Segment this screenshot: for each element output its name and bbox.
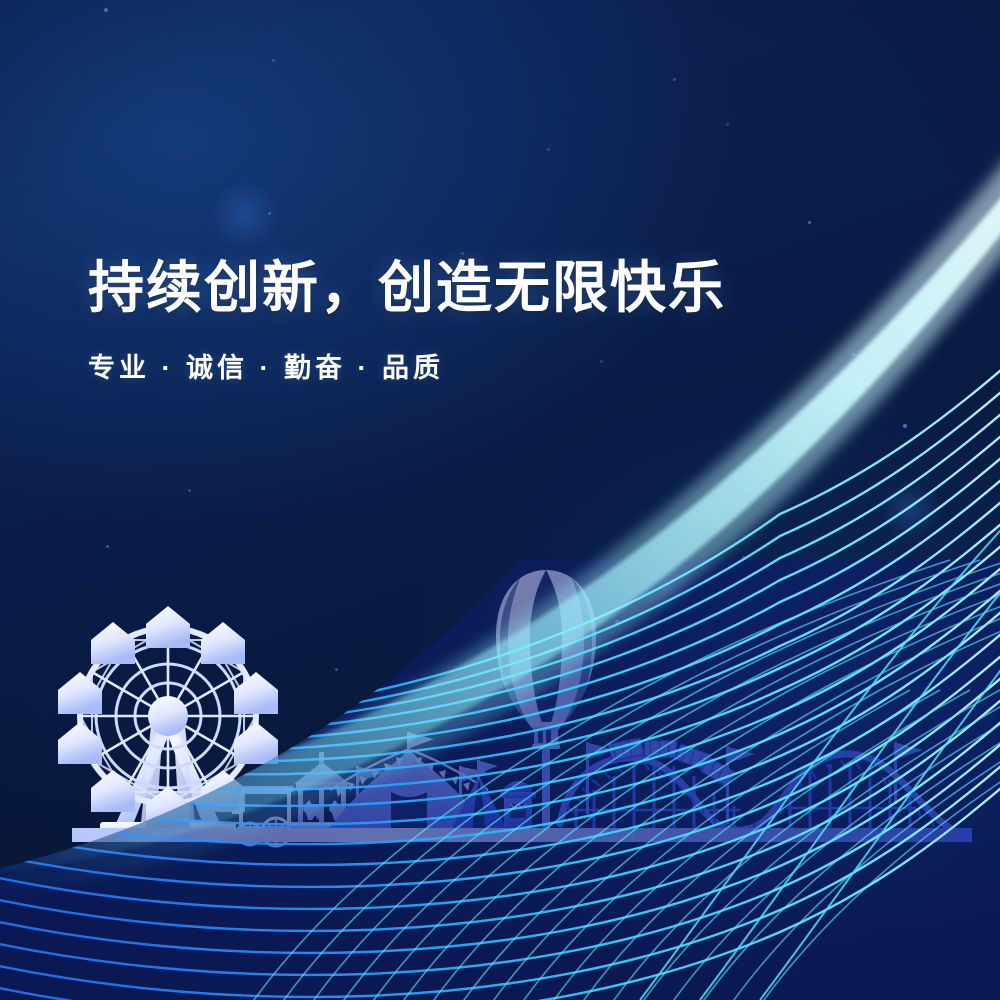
banner-canvas: 持续创新，创造无限快乐 专业 · 诚信 · 勤奋 · 品质	[0, 0, 1000, 1000]
glowing-wave-ribbon	[0, 0, 1000, 1000]
hero-copy-block: 持续创新，创造无限快乐 专业 · 诚信 · 勤奋 · 品质	[88, 258, 928, 385]
page-subtitle: 专业 · 诚信 · 勤奋 · 品质	[88, 346, 928, 385]
page-title: 持续创新，创造无限快乐	[88, 258, 928, 318]
